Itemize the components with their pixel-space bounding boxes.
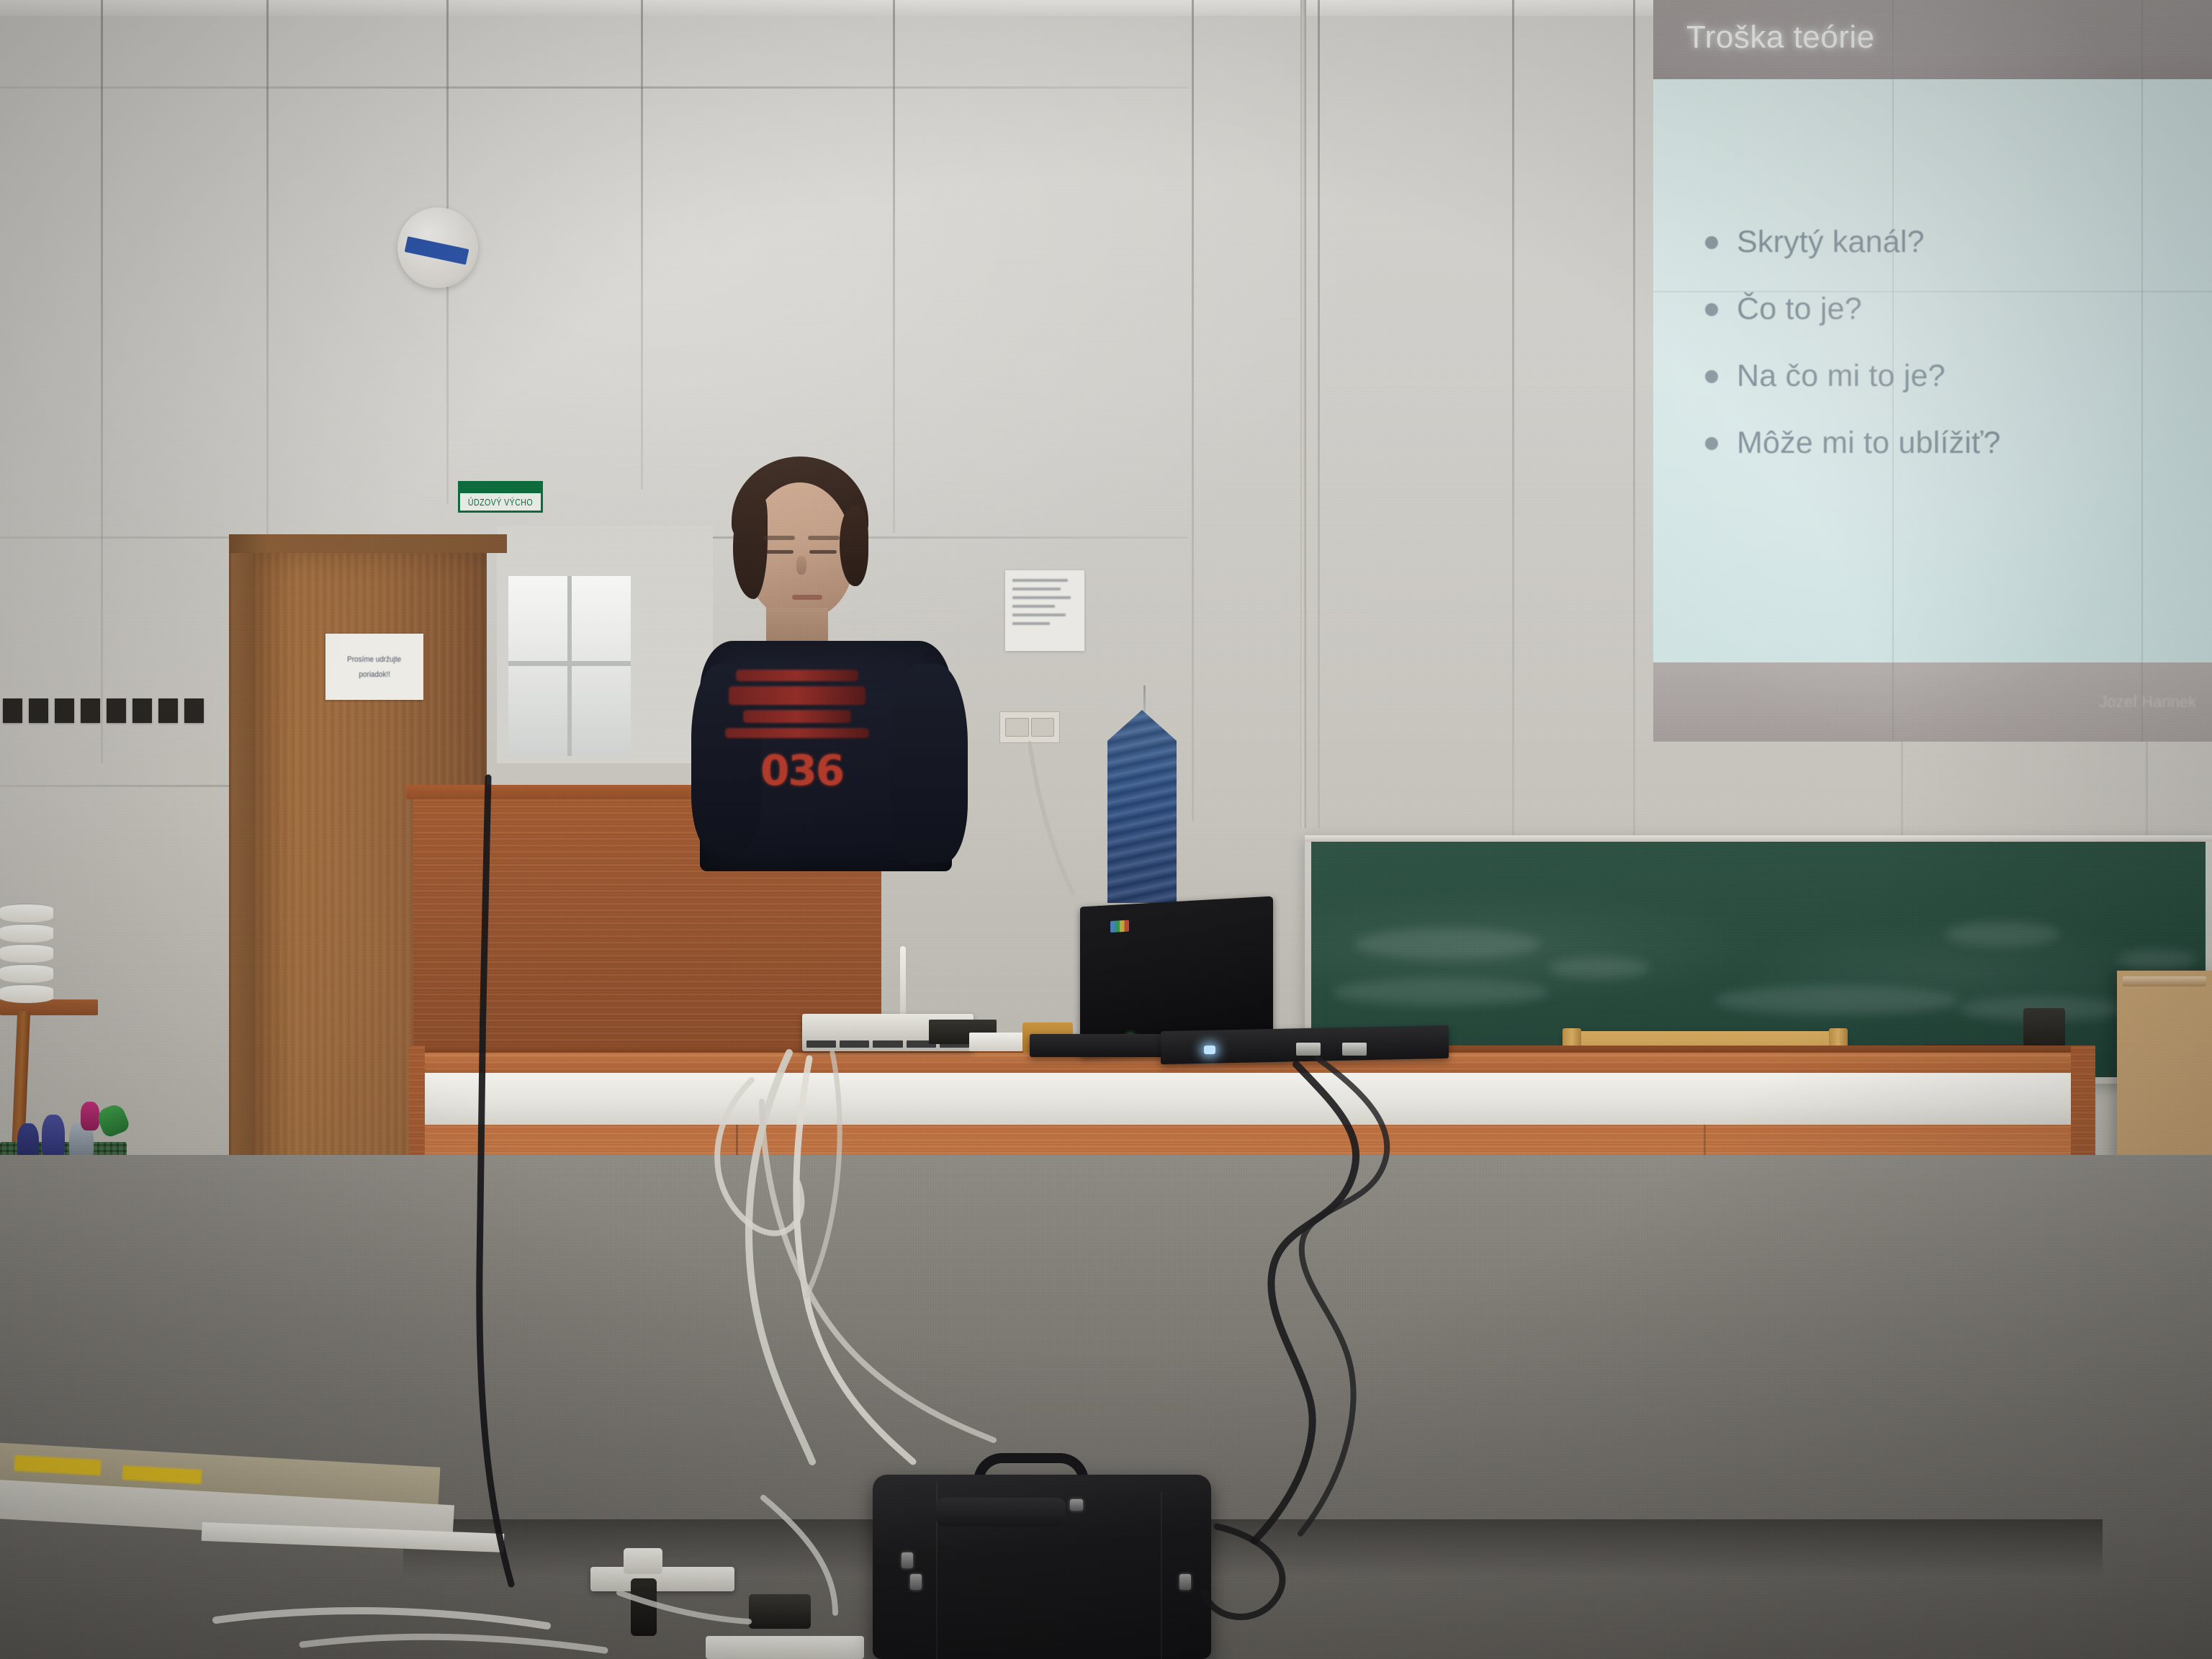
projection-screen: Troška teórie Skrytý kanál? Čo to je? Na… (1653, 0, 2212, 742)
slide-bullet-item: Skrytý kanál? (1705, 225, 2000, 260)
eye-right (809, 550, 837, 554)
projection-wall-seam (1892, 0, 1894, 742)
presenter: 036 (691, 461, 994, 864)
bullet-label: Skrytý kanál? (1737, 225, 1925, 260)
door-frame-head (229, 534, 507, 553)
eyebrow-right (808, 536, 840, 540)
wall-hook (81, 698, 100, 723)
notice-text-line (1012, 596, 1071, 599)
eye-left (766, 550, 793, 554)
bowl (0, 904, 53, 922)
notice-text-line (1012, 588, 1061, 590)
bag-top-panel (936, 1498, 1066, 1527)
floor-power-strip[interactable] (706, 1636, 864, 1659)
power-strip[interactable] (590, 1567, 734, 1591)
wall-seam (1192, 0, 1194, 821)
laptop-port (1342, 1043, 1367, 1056)
bowl (0, 924, 53, 943)
router-port (873, 1040, 902, 1048)
wall-conduit (1300, 0, 1306, 828)
slide-footer-bar: Jozef Harinek (1653, 662, 2212, 742)
wall-power-socket[interactable] (999, 711, 1060, 743)
wall-hook (184, 698, 204, 723)
slide-title: Troška teórie (1686, 19, 1875, 55)
slide-bullet-item: Na čo mi to je? (1705, 359, 2000, 394)
bag-zipper-pull[interactable] (1070, 1499, 1083, 1511)
router-port (806, 1040, 836, 1048)
wall-notice-paper (1005, 570, 1084, 651)
slide-bullet-list: Skrytý kanál? Čo to je? Na čo mi to je? … (1705, 225, 2000, 493)
ponytail (840, 505, 868, 586)
counter-white-band (413, 1073, 2087, 1128)
bowl (0, 964, 53, 983)
ibm-logo-icon (1110, 920, 1129, 932)
wall-hook (3, 698, 22, 723)
chalk-smudge (1549, 957, 1650, 979)
door-notice-paper: Prosíme udržujte poriadok!! (325, 634, 423, 700)
wall-seam (101, 0, 103, 763)
sleeve-right (890, 664, 968, 863)
graphic-stripe (736, 670, 858, 681)
wall-seam (893, 0, 895, 533)
projection-wall-seam (2141, 0, 2143, 742)
notice-text-line (1012, 579, 1068, 582)
chalk-smudge (2118, 950, 2197, 970)
router-antenna (900, 946, 906, 1015)
socket-outlet (1031, 718, 1055, 737)
nose (796, 556, 806, 575)
wall-hook-row (3, 698, 204, 723)
window-pane (508, 576, 631, 756)
bag-seam (1161, 1492, 1162, 1659)
laptop-port (1296, 1043, 1321, 1056)
bag-zipper-pull[interactable] (1179, 1574, 1191, 1590)
wall-hook (107, 698, 126, 723)
door-notice-line: poriadok!! (359, 670, 390, 679)
graphic-stripe (725, 728, 869, 738)
plug-body (631, 1578, 657, 1636)
mouth (792, 595, 822, 600)
router-port (840, 1040, 869, 1048)
hair-side (733, 498, 768, 599)
wall-seam (1512, 0, 1514, 835)
bullet-dot-icon (1705, 236, 1718, 249)
slide-bullet-item: Čo to je? (1705, 292, 2000, 327)
wall-hook (158, 698, 178, 723)
bullet-dot-icon (1705, 370, 1718, 383)
exit-sign-label: NÚDZOVÝ VÝCHOD (467, 493, 534, 511)
wall-hook (55, 698, 74, 723)
chalk-smudge (1945, 921, 2060, 947)
wall-seam (0, 86, 1188, 89)
blue-hanging-flag (1107, 710, 1177, 903)
chalk-smudge (1333, 979, 1549, 1006)
bullet-label: Čo to je? (1737, 292, 1862, 327)
bottle (42, 1115, 65, 1161)
bag-zipper-pull[interactable] (902, 1552, 913, 1568)
slide-footer-author: Jozef Harinek (2099, 693, 2196, 711)
bowl (0, 944, 53, 963)
bullet-dot-icon (1705, 303, 1718, 316)
door-notice-line: Prosíme udržujte (348, 655, 402, 664)
graphic-stripe (743, 710, 851, 723)
laptop-power-led (1204, 1046, 1215, 1054)
eyebrow-left (763, 536, 795, 540)
power-adapter-brick (749, 1594, 811, 1629)
bowl (0, 984, 53, 1003)
bullet-dot-icon (1705, 437, 1718, 450)
exit-sign-bar (460, 483, 541, 493)
chalk-smudge (1714, 986, 1959, 1015)
socket-outlet (1005, 718, 1029, 737)
wall-hook (132, 698, 152, 723)
bag-zipper-pull[interactable] (910, 1574, 922, 1590)
wall-seam (266, 0, 269, 547)
chalkboard-top-rail (1305, 835, 2212, 842)
tan-panel-rail (2123, 976, 2206, 986)
wall-seam (641, 0, 643, 490)
notice-text-line (1012, 613, 1066, 616)
photo-scene: NÚDZOVÝ VÝCHOD Prosíme udržujte poriadok… (0, 0, 2212, 1659)
emergency-exit-sign: NÚDZOVÝ VÝCHOD (458, 481, 543, 513)
wall-disc-accent-bar (405, 236, 469, 265)
wall-seam (1318, 0, 1320, 828)
window-mullion (567, 576, 572, 756)
wall-hook (29, 698, 48, 723)
projection-wall-seam (1653, 291, 2212, 292)
graphic-stripe (729, 686, 866, 705)
wall-seam (1633, 0, 1635, 835)
shirt-graphic (721, 670, 873, 738)
chalk-smudge (1354, 928, 1542, 960)
plug-adapter (624, 1548, 662, 1574)
wall-disc-sign (397, 207, 478, 288)
shirt-number: 036 (760, 746, 843, 795)
bullet-label: Môže mi to ublížiť? (1737, 426, 2000, 461)
notice-text-line (1012, 605, 1055, 608)
bottle-cap (81, 1102, 99, 1130)
slide-bullet-item: Môže mi to ublížiť? (1705, 426, 2000, 461)
door-frame-left (229, 534, 253, 1247)
slide-title-bar: Troška teórie (1653, 0, 2212, 79)
flag-cord (1143, 685, 1146, 716)
notice-text-line (1012, 622, 1050, 625)
stacked-bowls (0, 904, 53, 1003)
bullet-label: Na čo mi to je? (1737, 359, 1946, 394)
